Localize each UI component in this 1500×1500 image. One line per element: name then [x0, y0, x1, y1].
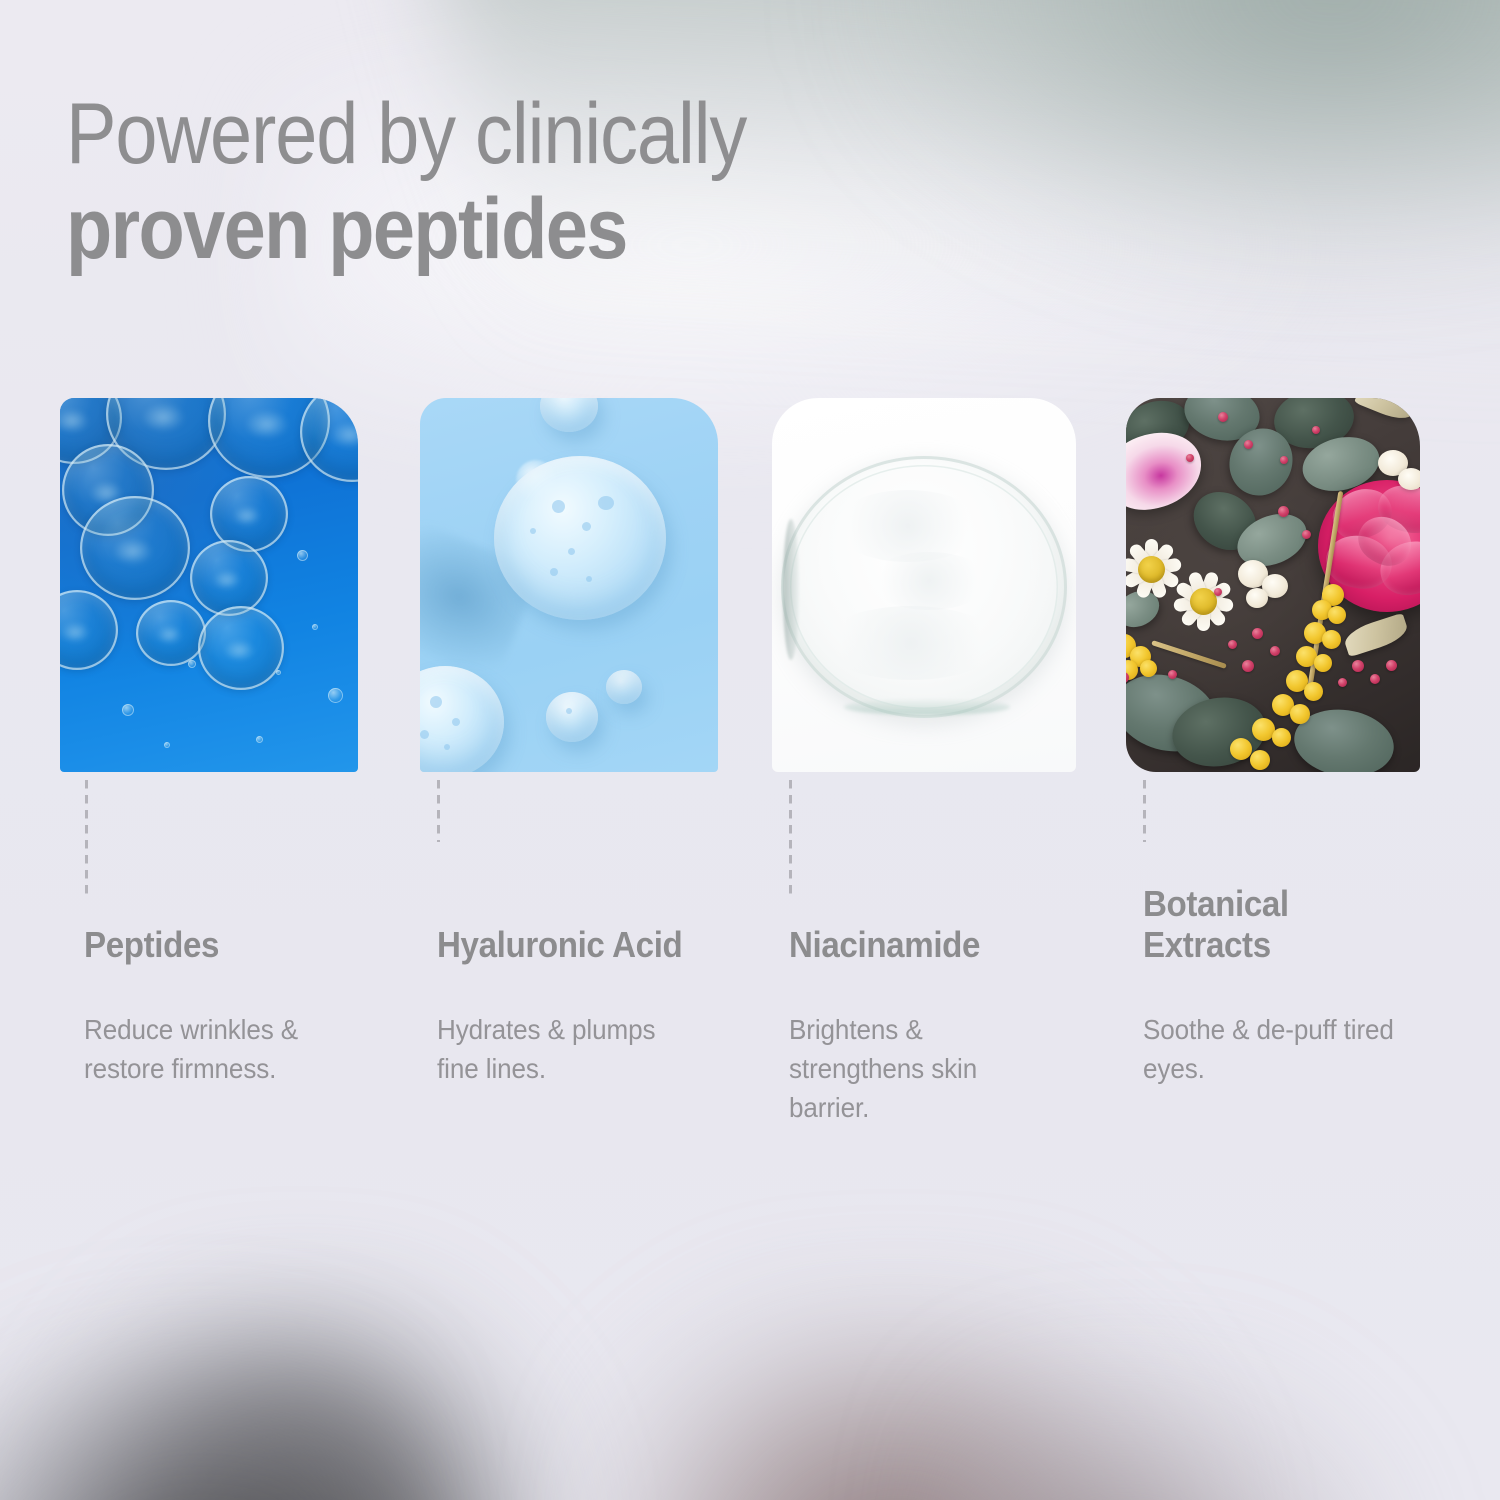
daisy-flower [1162, 560, 1244, 642]
oil-bubble [198, 606, 284, 690]
dish-rim-shadow-bottom [844, 699, 1010, 715]
small-white-flower [1398, 468, 1420, 490]
ingredient-title-block-peptides: Peptides [84, 855, 374, 965]
gel-droplet-small [546, 692, 598, 742]
pepper-berry [1252, 628, 1263, 639]
pepper-berry [1214, 588, 1222, 596]
mimosa-bud [1322, 630, 1341, 649]
mimosa-bud [1290, 704, 1310, 724]
pepper-berry [1302, 530, 1311, 539]
powder-texture [869, 552, 989, 610]
ingredient-image-botanical-extracts [1126, 398, 1420, 772]
gel-bubble [586, 576, 592, 582]
gel-bubble [552, 500, 565, 513]
micro-droplet [328, 688, 343, 703]
micro-droplet [256, 736, 263, 743]
ingredient-image-niacinamide [772, 398, 1076, 772]
micro-droplet [122, 704, 134, 716]
oil-bubble [136, 600, 206, 666]
ingredient-description: Reduce wrinkles & restore firmness. [84, 1010, 352, 1088]
gel-bubble [568, 548, 575, 555]
pepper-berry [1242, 660, 1254, 672]
mimosa-bud [1328, 606, 1346, 624]
ingredient-title: Peptides [84, 924, 219, 965]
ingredient-image-row [0, 398, 1500, 772]
micro-droplet [297, 550, 308, 561]
connector-line-hyaluronic-acid [437, 780, 440, 842]
pepper-berry [1244, 440, 1253, 449]
ingredient-title: Botanical Extracts [1143, 883, 1401, 965]
ingredient-title-block-hyaluronic-acid: Hyaluronic Acid [437, 855, 717, 965]
powder-texture [833, 490, 983, 562]
micro-droplet [312, 624, 318, 630]
oil-bubble [190, 540, 268, 616]
micro-droplet [276, 670, 281, 675]
gel-bubble [582, 522, 591, 531]
ingredient-description: Hydrates & plumps fine lines. [437, 1010, 670, 1088]
headline-line-1: Powered by clinically [66, 92, 746, 177]
small-white-flower [1246, 588, 1268, 608]
pipette-and-gel-droplets-photo [420, 398, 718, 772]
gel-bubble [420, 730, 429, 739]
daisy-center [1138, 556, 1165, 583]
gel-bubble [444, 744, 450, 750]
micro-droplet [164, 742, 170, 748]
mimosa-bud [1230, 738, 1252, 760]
pepper-berry [1168, 670, 1177, 679]
mimosa-bud [1272, 728, 1291, 747]
headline-line-2: proven peptides [66, 187, 746, 272]
ingredient-image-peptides [60, 398, 358, 772]
gel-droplet-large [494, 456, 666, 620]
pepper-berry [1270, 646, 1280, 656]
ingredient-title: Niacinamide [789, 924, 980, 965]
mimosa-bud [1304, 682, 1323, 701]
pepper-berry [1370, 674, 1380, 684]
gel-bubble [530, 528, 536, 534]
gel-droplet-tiny [606, 670, 642, 704]
page-title: Powered by clinically proven peptides [66, 92, 839, 272]
infographic-page: Powered by clinically proven peptides [0, 0, 1500, 1500]
gel-bubble [430, 696, 442, 708]
botanical-flatlay-flowers-photo [1126, 398, 1420, 772]
oil-bubble [80, 496, 190, 600]
ingredient-description: Soothe & de-puff tired eyes. [1143, 1010, 1422, 1088]
powder-texture [821, 606, 1001, 680]
gel-bubble [566, 708, 572, 714]
blue-oil-bubbles-photo [60, 398, 358, 772]
dish-rim-shadow-left [783, 519, 799, 660]
mimosa-bud [1314, 654, 1332, 672]
petri-dish [781, 456, 1067, 718]
ingredient-title: Hyaluronic Acid [437, 924, 682, 965]
gel-bubble [452, 718, 460, 726]
ingredient-title-block-niacinamide: Niacinamide [789, 855, 1089, 965]
petri-dish-white-powder-photo [772, 398, 1076, 772]
ingredient-image-hyaluronic-acid [420, 398, 718, 772]
pepper-berry [1352, 660, 1364, 672]
gel-bubble [550, 568, 558, 576]
pepper-berry [1386, 660, 1397, 671]
pepper-berry [1228, 640, 1237, 649]
mimosa-bud [1250, 750, 1270, 770]
mimosa-bud [1140, 660, 1157, 677]
daisy-center [1190, 588, 1217, 615]
pepper-berry [1312, 426, 1320, 434]
ingredient-description: Brightens & strengthens skin barrier. [789, 1010, 1059, 1128]
pepper-berry [1218, 412, 1228, 422]
micro-droplet [188, 660, 196, 668]
pepper-berry [1338, 678, 1347, 687]
pepper-berry [1186, 454, 1194, 462]
ingredient-title-block-botanical-extracts: Botanical Extracts [1143, 855, 1423, 965]
pepper-berry [1280, 456, 1288, 464]
pepper-berry [1278, 506, 1289, 517]
gel-bubble [598, 496, 614, 510]
connector-line-botanical-extracts [1143, 780, 1146, 842]
